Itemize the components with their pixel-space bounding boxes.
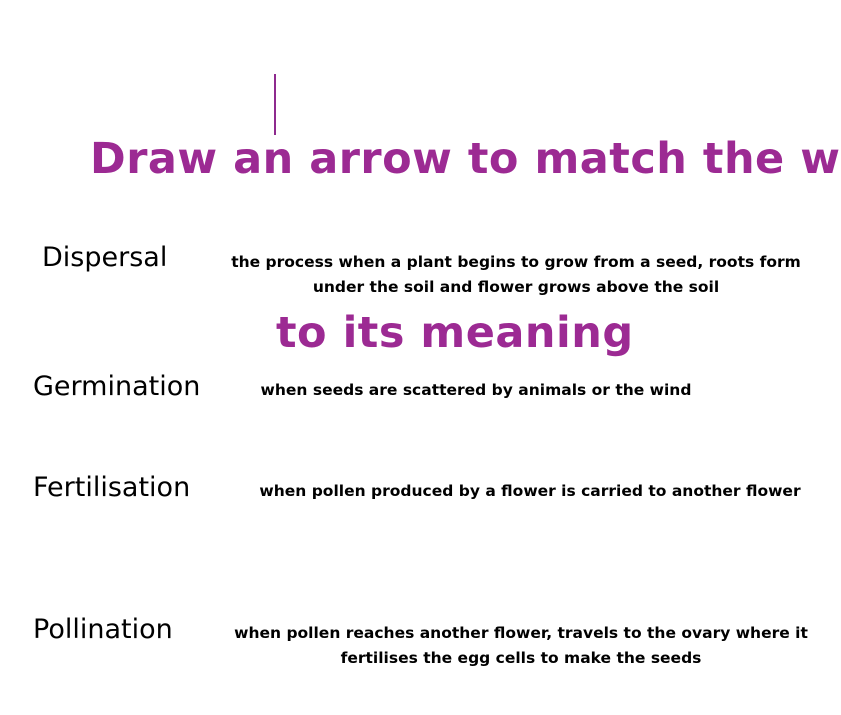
definition-text[interactable]: when seeds are scattered by animals or t… <box>228 378 724 403</box>
page-title-line-1: Draw an arrow to match the word <box>90 130 810 188</box>
vocabulary-term[interactable]: Dispersal <box>42 243 167 273</box>
vocabulary-term[interactable]: Germination <box>33 372 200 402</box>
text-cursor-caret <box>274 74 276 135</box>
vocabulary-term[interactable]: Pollination <box>33 615 173 645</box>
worksheet-slide: Draw an arrow to match the word to its m… <box>0 0 841 715</box>
definition-text[interactable]: the process when a plant begins to grow … <box>228 250 804 300</box>
definition-text[interactable]: when pollen reaches another flower, trav… <box>228 621 814 671</box>
definition-text[interactable]: when pollen produced by a flower is carr… <box>252 479 808 504</box>
page-title-line-2: to its meaning <box>90 304 810 362</box>
page-title: Draw an arrow to match the word to its m… <box>90 14 810 478</box>
vocabulary-term[interactable]: Fertilisation <box>33 473 190 503</box>
